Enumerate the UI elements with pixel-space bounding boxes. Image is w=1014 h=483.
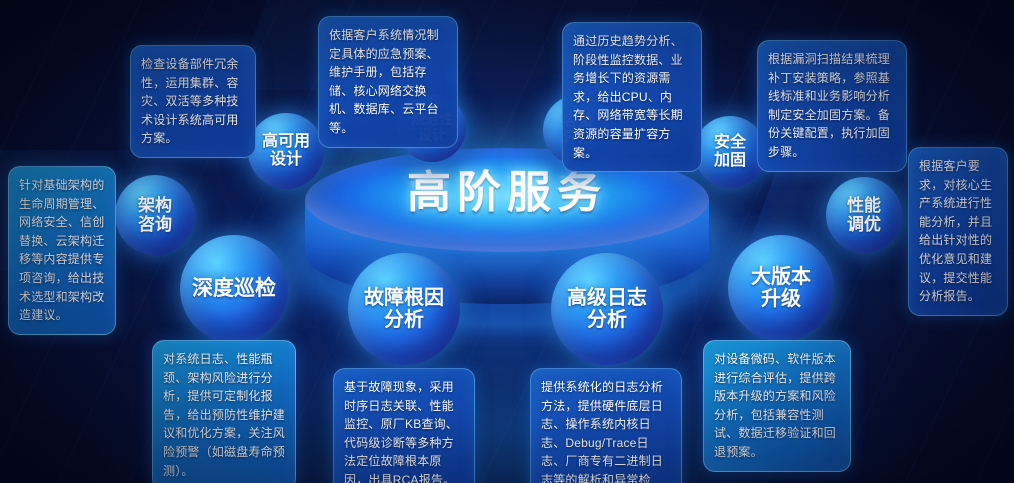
node-deep-inspection[interactable]: 深度巡检 <box>180 235 288 343</box>
node-label-line2: 分析 <box>567 309 647 331</box>
node-root-cause-analysis[interactable]: 故障根因 分析 <box>348 253 460 365</box>
node-high-availability-design[interactable]: 高可用 设计 <box>248 113 324 189</box>
callout-capacity-assessment: 通过历史趋势分析、阶段性监控数据、业务增长下的资源需求，给出CPU、内存、网络带… <box>562 22 702 172</box>
node-label-line1: 故障根因 <box>364 287 444 309</box>
node-performance-tuning[interactable]: 性能 调优 <box>826 177 902 253</box>
infographic-canvas: 高阶服务 高阶服务 架构 咨询 高可用 设计 规范性 设计 容量 评估 安全 加… <box>0 0 1014 483</box>
node-major-version-upgrade[interactable]: 大版本 升级 <box>728 235 834 341</box>
callout-standardization-design: 依据客户系统情况制定具体的应急预案、维护手册，包括存储、核心网络交换机、数据库、… <box>318 16 458 148</box>
callout-performance-tuning: 根据客户要求，对核心生产系统进行性能分析，并且给出针对性的优化意见和建议，提交性… <box>908 147 1008 316</box>
node-label-line1: 高级日志 <box>567 287 647 309</box>
node-label-line1: 性能 <box>847 196 881 215</box>
callout-deep-inspection: 对系统日志、性能瓶颈、架构风险进行分析，提供可定制化报告，给出预防性维护建议和优… <box>152 340 296 483</box>
node-label-line2: 加固 <box>714 152 746 170</box>
node-label-line1: 深度巡检 <box>192 277 276 301</box>
node-label-line2: 调优 <box>847 215 881 234</box>
node-label-line1: 大版本 <box>751 266 811 288</box>
node-label-line1: 安全 <box>714 134 746 152</box>
node-security-hardening[interactable]: 安全 加固 <box>694 116 766 188</box>
callout-architecture-consulting: 针对基础架构的生命周期管理、网络安全、信创替换、云架构迁移等内容提供专项咨询，给… <box>8 166 116 335</box>
node-label-line2: 升级 <box>751 288 811 310</box>
callout-high-availability-design: 检查设备部件冗余性，运用集群、容灾、双活等多种技术设计系统高可用方案。 <box>130 45 256 158</box>
background-sheen-top <box>234 0 787 90</box>
node-architecture-consulting[interactable]: 架构 咨询 <box>115 175 195 255</box>
node-label-line2: 咨询 <box>138 215 172 234</box>
callout-security-hardening: 根据漏洞扫描结果梳理补丁安装策略，参照基线标准和业务影响分析制定安全加固方案。备… <box>757 40 907 172</box>
callout-root-cause-analysis: 基于故障现象，采用时序日志关联、性能监控、原厂KB查询、代码级诊断等多种方法定位… <box>333 368 475 483</box>
node-label-line2: 分析 <box>364 309 444 331</box>
node-label-line2: 设计 <box>262 151 310 169</box>
callout-major-version-upgrade: 对设备微码、软件版本进行综合评估，提供跨版本升级的方案和风险分析，包括兼容性测试… <box>703 340 851 472</box>
node-label-line1: 高可用 <box>262 133 310 151</box>
node-label-line1: 架构 <box>138 196 172 215</box>
node-advanced-log-analysis[interactable]: 高级日志 分析 <box>551 253 663 365</box>
callout-advanced-log-analysis: 提供系统化的日志分析方法，提供硬件底层日志、操作系统内核日志、Debug/Tra… <box>530 368 682 483</box>
